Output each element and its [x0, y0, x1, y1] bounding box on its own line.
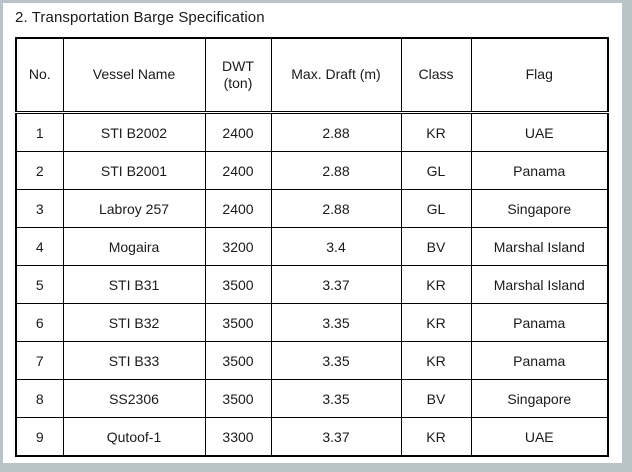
- cell-vessel: SS2306: [63, 380, 205, 418]
- cell-class: KR: [401, 304, 471, 342]
- cell-class: KR: [401, 266, 471, 304]
- cell-draft: 3.4: [271, 228, 401, 266]
- cell-dwt: 3500: [205, 266, 271, 304]
- table-row: 7STI B3335003.35KRPanama: [16, 342, 608, 380]
- cell-flag: Panama: [471, 342, 608, 380]
- table-body: 1STI B200224002.88KRUAE2STI B200124002.8…: [16, 113, 608, 457]
- column-header-flag: Flag: [471, 38, 608, 113]
- cell-flag: Marshal Island: [471, 266, 608, 304]
- cell-draft: 3.35: [271, 342, 401, 380]
- cell-dwt: 3200: [205, 228, 271, 266]
- table-header-row: No. Vessel Name DWT (ton) Max. Draft (m)…: [16, 38, 608, 113]
- cell-dwt: 2400: [205, 113, 271, 152]
- cell-class: KR: [401, 342, 471, 380]
- column-header-class: Class: [401, 38, 471, 113]
- cell-no: 7: [16, 342, 63, 380]
- page-title: 2. Transportation Barge Specification: [15, 9, 265, 26]
- cell-no: 3: [16, 190, 63, 228]
- cell-vessel: Qutoof-1: [63, 418, 205, 457]
- cell-dwt: 2400: [205, 152, 271, 190]
- cell-draft: 2.88: [271, 190, 401, 228]
- cell-draft: 3.35: [271, 380, 401, 418]
- table-row: 5STI B3135003.37KRMarshal Island: [16, 266, 608, 304]
- cell-dwt: 3500: [205, 342, 271, 380]
- column-header-no: No.: [16, 38, 63, 113]
- cell-class: KR: [401, 418, 471, 457]
- cell-class: GL: [401, 190, 471, 228]
- cell-vessel: STI B31: [63, 266, 205, 304]
- cell-draft: 3.37: [271, 266, 401, 304]
- column-header-vessel-name: Vessel Name: [63, 38, 205, 113]
- cell-flag: UAE: [471, 113, 608, 152]
- cell-dwt: 3300: [205, 418, 271, 457]
- cell-vessel: STI B2002: [63, 113, 205, 152]
- table-row: 2STI B200124002.88GLPanama: [16, 152, 608, 190]
- cell-class: BV: [401, 380, 471, 418]
- table-row: 9Qutoof-133003.37KRUAE: [16, 418, 608, 457]
- cell-draft: 3.35: [271, 304, 401, 342]
- cell-class: KR: [401, 113, 471, 152]
- cell-no: 2: [16, 152, 63, 190]
- column-header-max-draft: Max. Draft (m): [271, 38, 401, 113]
- column-header-no-label: No.: [29, 66, 51, 82]
- cell-dwt: 2400: [205, 190, 271, 228]
- cell-class: GL: [401, 152, 471, 190]
- cell-no: 9: [16, 418, 63, 457]
- cell-class: BV: [401, 228, 471, 266]
- cell-flag: UAE: [471, 418, 608, 457]
- cell-vessel: Mogaira: [63, 228, 205, 266]
- cell-no: 6: [16, 304, 63, 342]
- column-header-vessel-name-label: Vessel Name: [93, 66, 175, 82]
- cell-dwt: 3500: [205, 380, 271, 418]
- cell-no: 1: [16, 113, 63, 152]
- table-row: 4Mogaira32003.4BVMarshal Island: [16, 228, 608, 266]
- cell-flag: Panama: [471, 304, 608, 342]
- document-page: 2. Transportation Barge Specification No…: [3, 3, 622, 463]
- column-header-max-draft-label: Max. Draft (m): [291, 66, 380, 82]
- cell-flag: Singapore: [471, 380, 608, 418]
- cell-flag: Panama: [471, 152, 608, 190]
- column-header-dwt-unit: (ton): [206, 75, 271, 93]
- column-header-class-label: Class: [418, 66, 453, 82]
- table-header: No. Vessel Name DWT (ton) Max. Draft (m)…: [16, 38, 608, 113]
- cell-vessel: STI B33: [63, 342, 205, 380]
- cell-no: 4: [16, 228, 63, 266]
- table-row: 3Labroy 25724002.88GLSingapore: [16, 190, 608, 228]
- table-row: 1STI B200224002.88KRUAE: [16, 113, 608, 152]
- cell-vessel: Labroy 257: [63, 190, 205, 228]
- cell-vessel: STI B2001: [63, 152, 205, 190]
- cell-no: 5: [16, 266, 63, 304]
- column-header-flag-label: Flag: [526, 66, 553, 82]
- column-header-dwt-label: DWT: [222, 58, 254, 74]
- barge-specification-table: No. Vessel Name DWT (ton) Max. Draft (m)…: [15, 37, 609, 457]
- cell-draft: 2.88: [271, 113, 401, 152]
- cell-no: 8: [16, 380, 63, 418]
- cell-draft: 2.88: [271, 152, 401, 190]
- table-row: 6STI B3235003.35KRPanama: [16, 304, 608, 342]
- column-header-dwt: DWT (ton): [205, 38, 271, 113]
- table-row: 8SS230635003.35BVSingapore: [16, 380, 608, 418]
- cell-flag: Marshal Island: [471, 228, 608, 266]
- cell-vessel: STI B32: [63, 304, 205, 342]
- cell-flag: Singapore: [471, 190, 608, 228]
- cell-dwt: 3500: [205, 304, 271, 342]
- cell-draft: 3.37: [271, 418, 401, 457]
